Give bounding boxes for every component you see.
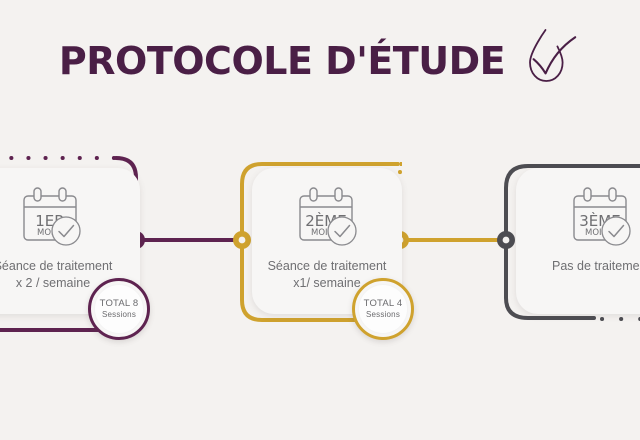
session-badge-1-total: TOTAL 8 xyxy=(100,299,139,310)
session-badge-1-inner: TOTAL 8 Sessions xyxy=(94,284,144,334)
session-badge-1-unit: Sessions xyxy=(102,310,136,319)
calendar-icon-3: 3ÈME MOIS xyxy=(564,186,638,250)
session-badge-2-inner: TOTAL 4 Sessions xyxy=(358,284,408,334)
calendar-icon-1: 1ER MOIS xyxy=(14,186,88,250)
node-step-3 xyxy=(497,231,515,249)
session-badge-2-unit: Sessions xyxy=(366,310,400,319)
session-badge-1[interactable]: TOTAL 8 Sessions xyxy=(88,278,150,340)
step-card-3[interactable]: 3ÈME MOIS Pas de traitement xyxy=(516,168,640,314)
step-description-3: Pas de traitement xyxy=(552,258,640,275)
session-badge-2-total: TOTAL 4 xyxy=(364,299,403,310)
node-step-2-left xyxy=(233,231,251,249)
calendar-icon-2: 2ÈME MOIS xyxy=(290,186,364,250)
step-description-2-line1: Séance de traitement xyxy=(268,258,387,275)
infographic-canvas: PROTOCOLE D'ÉTUDE xyxy=(0,0,640,440)
step-description-1-line1: Séance de traitement xyxy=(0,258,112,275)
step-description-3-line1: Pas de traitement xyxy=(552,258,640,275)
session-badge-2[interactable]: TOTAL 4 Sessions xyxy=(352,278,414,340)
